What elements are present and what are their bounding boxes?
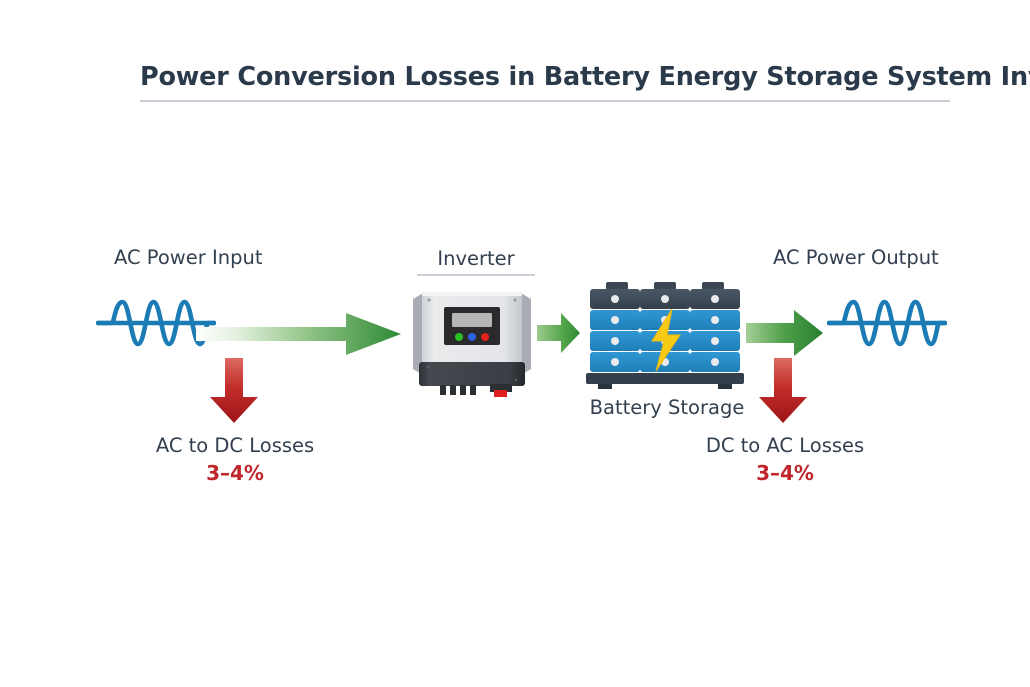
down-arrow-red-icon — [754, 357, 812, 425]
inverter-heading: Inverter — [417, 247, 535, 270]
loss-value: 3–4% — [140, 461, 330, 485]
diagram-canvas: Power Conversion Losses in Battery Energ… — [0, 0, 1030, 687]
battery-stack-icon — [580, 281, 750, 391]
ac-input-heading: AC Power Input — [114, 246, 262, 269]
led-red — [481, 333, 489, 341]
page-title: Power Conversion Losses in Battery Energ… — [140, 62, 950, 102]
right-arrow-green-icon — [746, 308, 824, 358]
ac-output-heading: AC Power Output — [773, 246, 939, 269]
loss-label: DC to AC Losses — [690, 434, 880, 457]
battery-storage-label: Battery Storage — [560, 396, 774, 419]
sine-wave-icon — [827, 288, 947, 358]
battery-cap — [702, 282, 724, 290]
loss-block-ac-to-dc: AC to DC Losses 3–4% — [140, 434, 330, 485]
dc-terminal — [494, 390, 507, 397]
title-divider — [140, 100, 950, 102]
lcd-screen — [452, 313, 492, 327]
page-title-text: Power Conversion Losses in Battery Energ… — [140, 62, 950, 92]
loss-value: 3–4% — [690, 461, 880, 485]
down-arrow-red-icon — [205, 357, 263, 425]
led-blue — [468, 333, 476, 341]
loss-label: AC to DC Losses — [140, 434, 330, 457]
right-arrow-green-faded-icon — [196, 311, 402, 357]
battery-cap — [606, 282, 628, 290]
loss-block-dc-to-ac: DC to AC Losses 3–4% — [690, 434, 880, 485]
inverter-icon — [407, 283, 537, 401]
inverter-divider — [417, 274, 535, 276]
led-green — [455, 333, 463, 341]
battery-cap — [654, 282, 676, 290]
right-arrow-green-icon — [537, 312, 581, 354]
